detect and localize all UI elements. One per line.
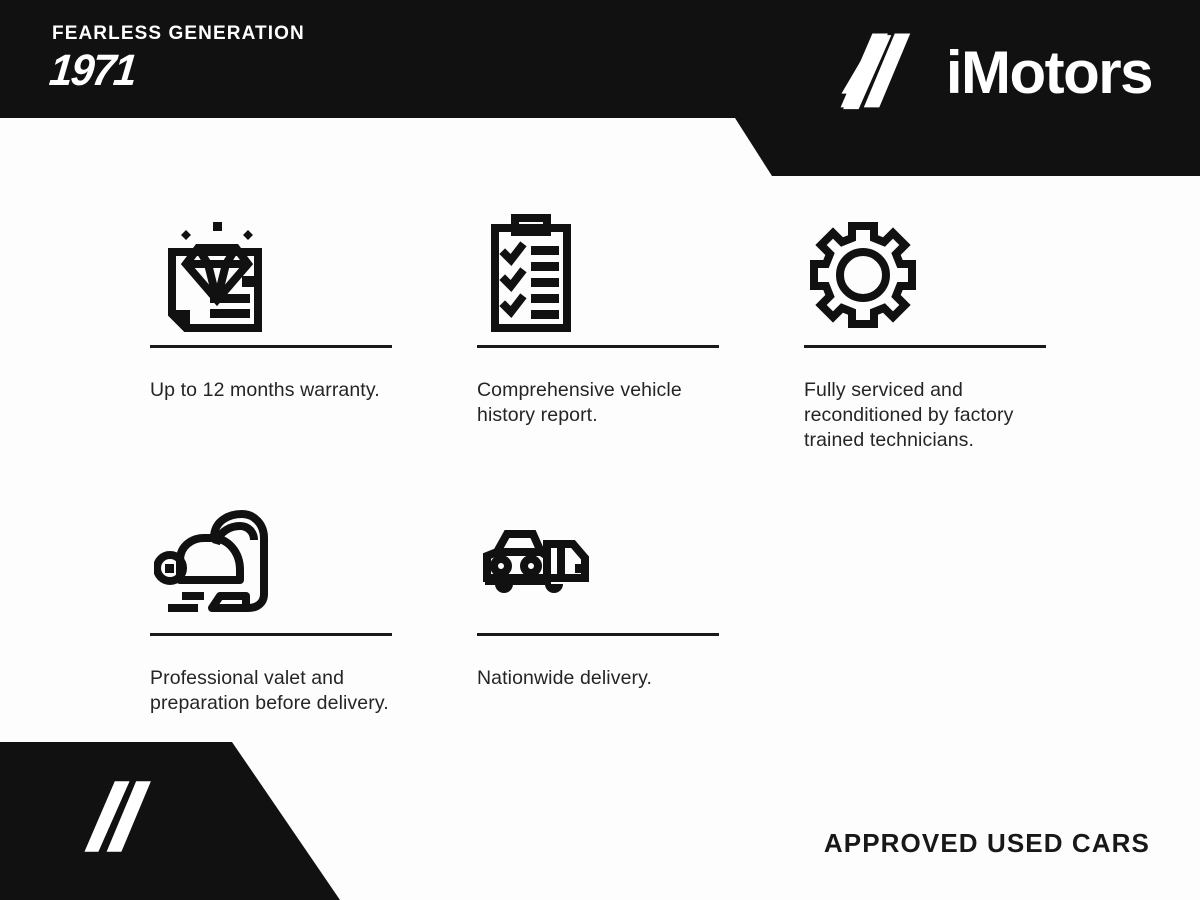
row-spacer: [150, 453, 1050, 493]
feature-label: Fully serviced and reconditioned by fact…: [804, 378, 1046, 453]
footer-banner: [0, 742, 340, 900]
brand-lockup[interactable]: iMotors: [838, 30, 1152, 116]
feature-label: Comprehensive vehicle history report.: [477, 378, 719, 428]
feature-divider: [804, 345, 1046, 348]
header-banner: FEARLESS GENERATION 1971 iMotors: [0, 0, 1200, 178]
feature-item-serviced: Fully serviced and reconditioned by fact…: [804, 205, 1046, 453]
gear-cog-icon: [804, 205, 1046, 345]
header-tagline: FEARLESS GENERATION: [52, 24, 472, 43]
fearless-generation-block: FEARLESS GENERATION 1971: [52, 24, 472, 93]
feature-item-delivery: Nationwide delivery.: [477, 493, 719, 691]
vacuum-cleaner-icon: [150, 493, 392, 633]
brand-name: iMotors: [946, 43, 1152, 103]
header-year: 1971: [47, 49, 451, 93]
feature-item-history-report: Comprehensive vehicle history report.: [477, 205, 719, 428]
slide-canvas: FEARLESS GENERATION 1971 iMotors: [0, 0, 1200, 900]
car-transporter-truck-icon: [477, 493, 719, 633]
feature-label: Nationwide delivery.: [477, 666, 719, 691]
feature-divider: [477, 633, 719, 636]
imotors-chevron-logo-icon: [838, 30, 924, 116]
feature-grid: Up to 12 months warranty.: [150, 205, 1050, 716]
feature-divider: [150, 633, 392, 636]
clipboard-checklist-icon: [477, 205, 719, 345]
feature-item-warranty: Up to 12 months warranty.: [150, 205, 392, 403]
diamond-certificate-icon: [150, 205, 392, 345]
feature-divider: [477, 345, 719, 348]
feature-label: Up to 12 months warranty.: [150, 378, 392, 403]
feature-divider: [150, 345, 392, 348]
footer-tagline: APPROVED USED CARS: [824, 828, 1150, 859]
feature-row: Professional valet and preparation befor…: [150, 493, 1050, 716]
feature-item-valet: Professional valet and preparation befor…: [150, 493, 392, 716]
feature-label: Professional valet and preparation befor…: [150, 666, 392, 716]
feature-row: Up to 12 months warranty.: [150, 205, 1050, 453]
